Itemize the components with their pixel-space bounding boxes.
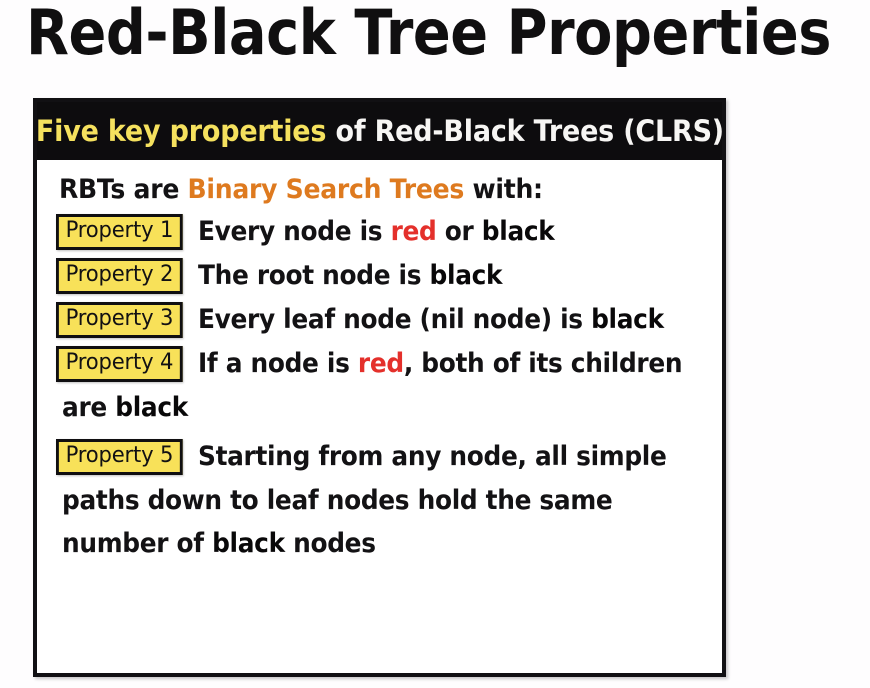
text-segment-red: red bbox=[358, 348, 404, 379]
property-continuation-line: are black bbox=[62, 392, 660, 423]
lead-before: RBTs are bbox=[59, 174, 188, 205]
card-header-accent: Five key properties bbox=[37, 114, 326, 148]
property-row: Property 3Every leaf node (nil node) is … bbox=[56, 302, 712, 338]
lead-after: with: bbox=[464, 174, 543, 205]
text-segment-plain: or bbox=[437, 216, 482, 247]
property-row: Property 4If a node is red, both of its … bbox=[56, 346, 712, 382]
property-text: The root node is black bbox=[198, 260, 502, 291]
text-segment-plain: , both of its children bbox=[404, 348, 682, 379]
text-segment-plain: number of bbox=[62, 528, 212, 559]
card-header-plain: of Red-Black Trees (CLRS) bbox=[326, 114, 722, 148]
property-list: Property 1Every node is red or blackProp… bbox=[56, 214, 712, 559]
property-badge-4[interactable]: Property 4 bbox=[56, 346, 183, 382]
property-row: Property 5Starting from any node, all si… bbox=[56, 439, 712, 475]
card-body: RBTs are Binary Search Trees with: Prope… bbox=[37, 160, 722, 585]
lead-line: RBTs are Binary Search Trees with: bbox=[59, 174, 666, 205]
text-segment-black: black bbox=[212, 528, 285, 559]
page-title: Red-Black Tree Properties bbox=[26, 0, 831, 67]
property-text: Every leaf node (nil node) is black bbox=[198, 304, 664, 335]
lead-accent: Binary Search Trees bbox=[188, 174, 464, 205]
property-row: Property 2The root node is black bbox=[56, 258, 712, 294]
property-continuation-line: paths down to leaf nodes hold the same bbox=[62, 485, 660, 516]
property-badge-3[interactable]: Property 3 bbox=[56, 302, 183, 338]
text-segment-plain: Every leaf node (nil node) is bbox=[198, 304, 591, 335]
property-text: If a node is red, both of its children bbox=[198, 348, 682, 379]
property-text: Every node is red or black bbox=[198, 216, 555, 247]
property-badge-2[interactable]: Property 2 bbox=[56, 258, 183, 294]
text-segment-plain: are bbox=[62, 392, 115, 423]
text-segment-black: black bbox=[430, 260, 503, 291]
text-segment-black: black bbox=[591, 304, 664, 335]
property-badge-5[interactable]: Property 5 bbox=[56, 439, 183, 475]
text-segment-plain: Every node is bbox=[198, 216, 391, 247]
text-segment-plain: nodes bbox=[285, 528, 376, 559]
text-segment-black: black bbox=[115, 392, 188, 423]
slide-canvas: Red-Black Tree Properties Five key prope… bbox=[0, 0, 870, 688]
text-segment-black: black bbox=[482, 216, 555, 247]
text-segment-plain: If a node is bbox=[198, 348, 358, 379]
text-segment-plain: The root node is bbox=[198, 260, 430, 291]
card-header-bar: Five key properties of Red-Black Trees (… bbox=[37, 102, 722, 160]
property-row: Property 1Every node is red or black bbox=[56, 214, 712, 250]
card-header-text: Five key properties of Red-Black Trees (… bbox=[37, 114, 722, 148]
property-text: Starting from any node, all simple bbox=[198, 441, 667, 472]
text-segment-plain: Starting from any node, all simple bbox=[198, 441, 667, 472]
property-badge-1[interactable]: Property 1 bbox=[56, 214, 183, 250]
text-segment-red: red bbox=[391, 216, 437, 247]
properties-card: Five key properties of Red-Black Trees (… bbox=[33, 98, 726, 677]
text-segment-plain: paths down to leaf nodes hold the same bbox=[62, 485, 612, 516]
property-continuation-line: number of black nodes bbox=[62, 528, 660, 559]
